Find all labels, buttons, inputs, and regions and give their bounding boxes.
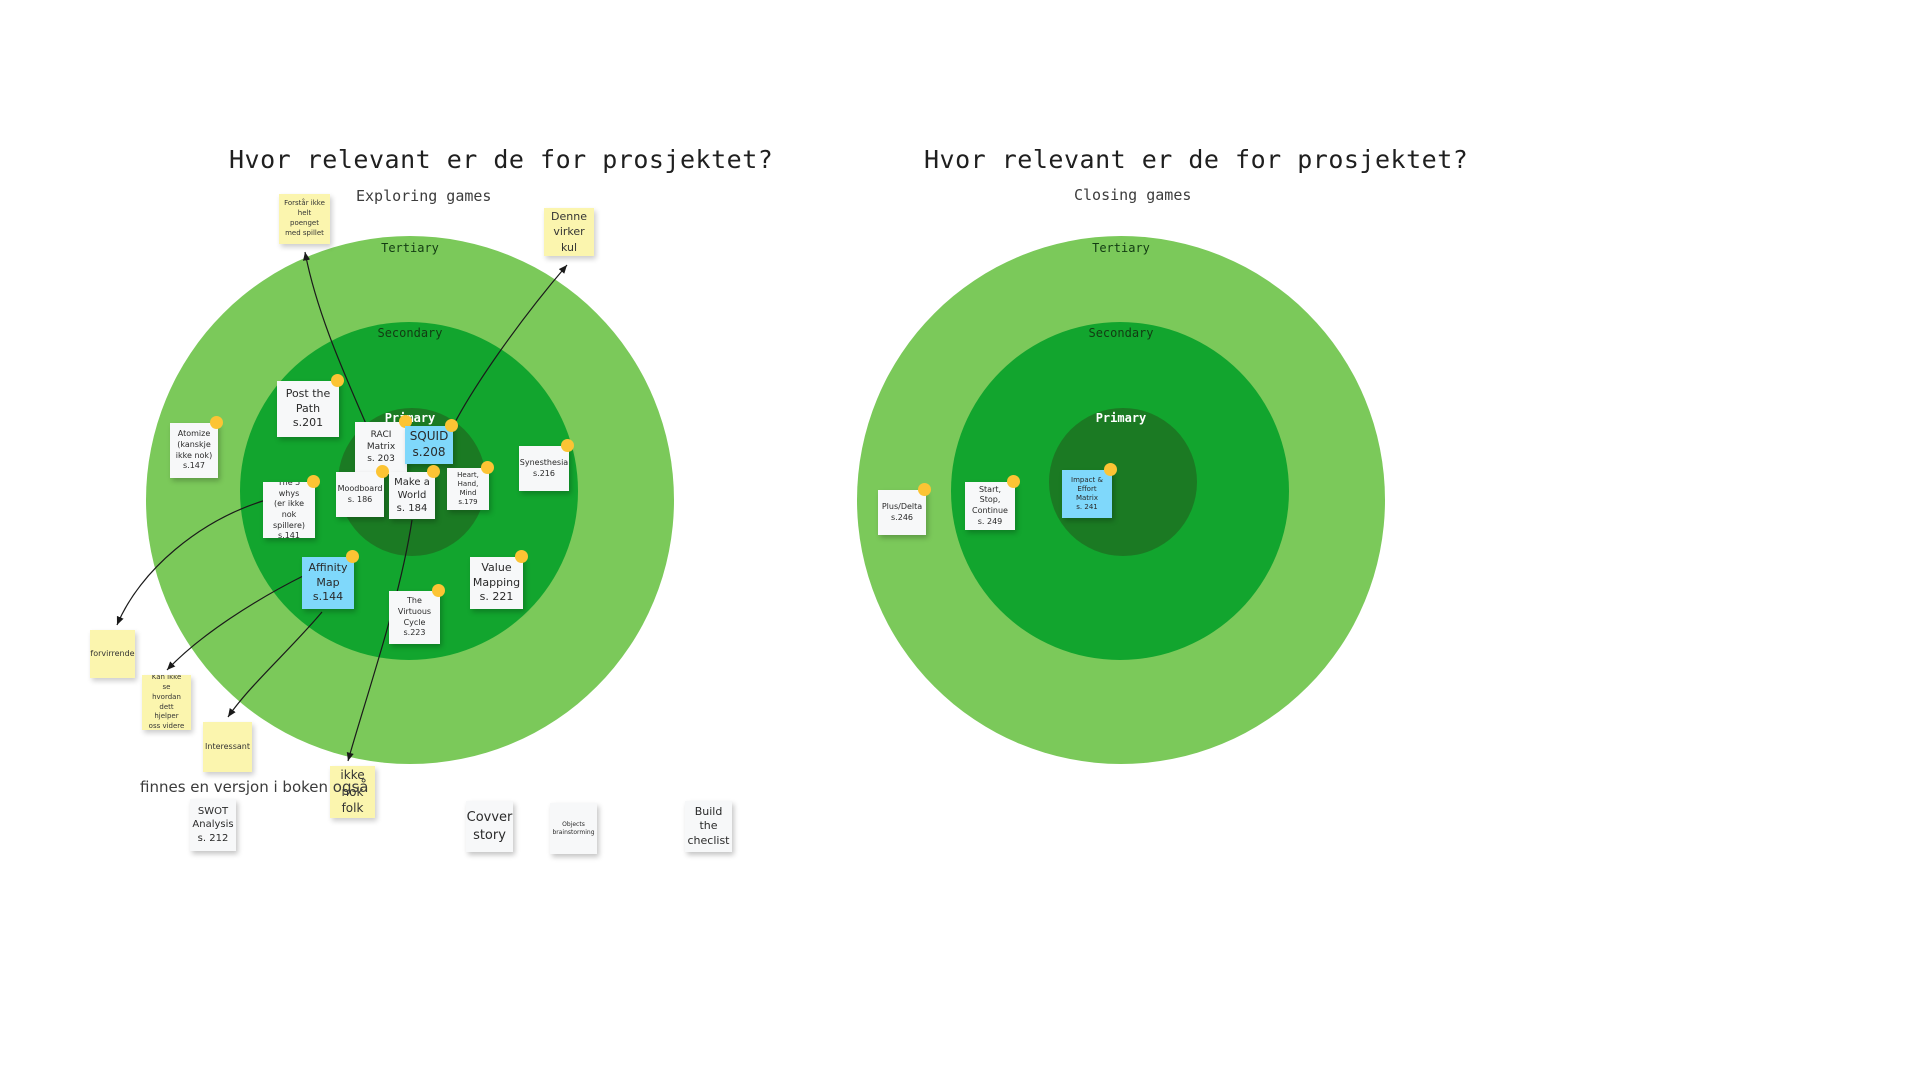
card-text-line: Kan ikke se (147, 675, 186, 693)
card-text: Objectsbrainstorming (552, 821, 594, 837)
card-text-line: hvordan (147, 693, 186, 703)
card-text-line: s.144 (308, 590, 347, 605)
card-text-line: Hand, Mind (452, 480, 484, 498)
card-text-line: Post the (286, 387, 331, 402)
card-text-line: Build (688, 805, 730, 820)
card-text-line: Synesthesia (520, 458, 568, 469)
card-text-line: Plus/Delta (882, 502, 922, 513)
card-affinity-map[interactable]: AffinityMaps.144 (302, 557, 354, 609)
card-text-line: s.201 (286, 416, 331, 431)
card-text-line: s.216 (520, 469, 568, 480)
card-text-line: s.208 (410, 445, 449, 461)
card-text-line: Moodboard (338, 484, 383, 495)
ring-label-tertiary-closing: Tertiary (1092, 241, 1150, 255)
card-text: Heart,Hand, Minds.179 (452, 471, 484, 508)
card-text-line: s. 212 (192, 832, 233, 845)
card-text: ValueMappings. 221 (473, 561, 520, 605)
card-moodboard[interactable]: Moodboards. 186 (336, 472, 384, 517)
ring-label-secondary-exploring: Secondary (377, 326, 442, 340)
card-post-the-path[interactable]: Post thePaths.201 (277, 381, 339, 437)
card-text: Impact &EffortMatrixs. 241 (1071, 476, 1103, 513)
card-impact-effort-matrix[interactable]: Impact &EffortMatrixs. 241 (1062, 470, 1112, 518)
card-text-line: Atomize (176, 429, 212, 440)
ring-label-secondary-closing: Secondary (1088, 326, 1153, 340)
card-text-line: s. 221 (473, 590, 520, 605)
card-text-line: Interessant (205, 741, 250, 752)
card-text-line: SWOT (192, 805, 233, 818)
card-text-line: s.141 (268, 531, 310, 538)
card-text-line: Path (286, 402, 331, 417)
card-text-line: World (394, 489, 430, 502)
card-text: Moodboards. 186 (338, 484, 383, 505)
card-text: Synesthesias.216 (520, 458, 568, 479)
card-text: SWOTAnalysiss. 212 (192, 805, 233, 845)
card-text-line: forvirrende (90, 648, 134, 659)
card-start-stop-continue[interactable]: Start, Stop,Continues. 249 (965, 482, 1015, 530)
card-plus-delta[interactable]: Plus/Deltas.246 (878, 490, 926, 535)
vote-dot-impact-effort-matrix[interactable] (1104, 463, 1117, 476)
vote-dot-heart-hand-mind[interactable] (481, 461, 494, 474)
card-text: SQUIDs.208 (410, 429, 449, 461)
card-the-virtuous-cycle[interactable]: TheVirtuousCycles.223 (389, 591, 440, 644)
card-build-the-checlist[interactable]: Buildthecheclist (685, 801, 732, 852)
card-text: Start, Stop,Continues. 249 (970, 485, 1010, 527)
vote-dot-atomize[interactable] (210, 416, 223, 429)
card-text: Covverstory (467, 809, 513, 843)
sticky-note-interessant[interactable]: Interessant (203, 722, 252, 772)
vote-dot-the-5-whys[interactable] (307, 475, 320, 488)
panel-subtitle-exploring: Exploring games (356, 187, 491, 205)
card-text: RACIMatrixs. 203 (367, 430, 395, 466)
card-text-line: SQUID (410, 429, 449, 445)
card-the-5-whys[interactable]: The 5 whys(er ikke nokspillere)s.141 (263, 482, 315, 538)
card-swot-analysis[interactable]: SWOTAnalysiss. 212 (190, 799, 236, 851)
vote-dot-plus-delta[interactable] (918, 483, 931, 496)
card-text-line: s.147 (176, 461, 212, 472)
vote-dot-make-a-world[interactable] (427, 465, 440, 478)
card-text-line: s. 186 (338, 495, 383, 506)
vote-dot-squid[interactable] (445, 419, 458, 432)
card-objects-brainstorming[interactable]: Objectsbrainstorming (550, 803, 597, 854)
card-text-line: Cycle (398, 618, 431, 629)
card-text-line: Value (473, 561, 520, 576)
ring-label-primary-closing: Primary (1096, 411, 1147, 425)
card-text-line: Virtuous (398, 607, 431, 618)
card-value-mapping[interactable]: ValueMappings. 221 (470, 557, 523, 609)
card-text-line: Objects (552, 821, 594, 829)
ring-label-tertiary-exploring: Tertiary (381, 241, 439, 255)
card-text-line: s. 241 (1071, 503, 1103, 512)
card-text: Atomize(kanskjeikke nok)s.147 (176, 429, 212, 471)
panel-title-exploring: Hvor relevant er de for prosjektet? (229, 145, 773, 174)
card-text-line: Make a (394, 476, 430, 489)
card-text-line: checlist (688, 834, 730, 849)
card-text-line: Continue (970, 506, 1010, 517)
card-text-line: dett hjelper (147, 703, 186, 723)
card-text: The 5 whys(er ikke nokspillere)s.141 (268, 482, 310, 538)
panel-title-closing: Hvor relevant er de for prosjektet? (924, 145, 1468, 174)
card-text-line: (kanskje (176, 440, 212, 451)
sticky-note-kan-ikke-se-hvordan[interactable]: Kan ikke sehvordandett hjelpeross videre (142, 675, 191, 730)
card-text-line: Matrix (367, 442, 395, 454)
card-text-line: s. 184 (394, 502, 430, 515)
card-text-line: brainstorming (552, 829, 594, 837)
card-text: Kan ikke sehvordandett hjelpeross videre (147, 675, 186, 730)
card-text-line: helt (284, 209, 325, 219)
vote-dot-affinity-map[interactable] (346, 550, 359, 563)
card-covver-story[interactable]: Covverstory (466, 801, 513, 852)
card-text-line: med spillet (284, 229, 325, 239)
card-text: Make aWorlds. 184 (394, 476, 430, 516)
card-text-line: virker (551, 224, 587, 239)
card-text-line: Start, Stop, (970, 485, 1010, 506)
free-text-finnes-en-versjon-note: finnes en versjon i boken også (140, 778, 368, 796)
card-text-line: Analysis (192, 818, 233, 831)
card-text: Plus/Deltas.246 (882, 502, 922, 523)
card-text-line: story (467, 827, 513, 844)
sticky-note-denne-virker-kul[interactable]: Dennevirkerkul (544, 208, 594, 256)
vote-dot-the-virtuous-cycle[interactable] (432, 584, 445, 597)
vote-dot-value-mapping[interactable] (515, 550, 528, 563)
card-text-line: Map (308, 576, 347, 591)
card-text-line: Heart, (452, 471, 484, 480)
card-text-line: Denne (551, 209, 587, 224)
card-text-line: s. 249 (970, 517, 1010, 528)
card-squid[interactable]: SQUIDs.208 (405, 426, 453, 464)
card-text-line: s.223 (398, 628, 431, 639)
card-text-line: s.179 (452, 498, 484, 507)
card-text: TheVirtuousCycles.223 (398, 596, 431, 638)
card-make-a-world[interactable]: Make aWorlds. 184 (389, 472, 435, 519)
card-text-line: ikke nok) (176, 451, 212, 462)
card-text: Post thePaths.201 (286, 387, 331, 431)
panel-subtitle-closing: Closing games (1074, 186, 1191, 204)
card-text-line: the (688, 819, 730, 834)
card-text-line: Mapping (473, 576, 520, 591)
card-text-line: kul (551, 240, 587, 255)
card-text: Dennevirkerkul (551, 209, 587, 255)
card-text-line: Forstår ikke (284, 199, 325, 209)
sticky-note-forvirrende[interactable]: forvirrende (90, 630, 135, 678)
vote-dot-synesthesia[interactable] (561, 439, 574, 452)
card-synesthesia[interactable]: Synesthesias.216 (519, 446, 569, 491)
card-text: Forstår ikkeheltpoengetmed spillet (284, 199, 325, 238)
card-text: Interessant (205, 741, 250, 752)
card-text-line: Covver (467, 809, 513, 826)
card-text-line: Matrix (1071, 494, 1103, 503)
card-text-line: Impact & (1071, 476, 1103, 485)
card-text-line: The 5 whys (268, 482, 310, 499)
card-heart-hand-mind[interactable]: Heart,Hand, Minds.179 (447, 468, 489, 510)
card-text: AffinityMaps.144 (308, 561, 347, 605)
sticky-note-forstar-ikke-poenget[interactable]: Forstår ikkeheltpoengetmed spillet (279, 194, 330, 244)
card-atomize[interactable]: Atomize(kanskjeikke nok)s.147 (170, 423, 218, 478)
card-text-line: poenget (284, 219, 325, 229)
card-text-line: The (398, 596, 431, 607)
card-text-line: folk (335, 800, 370, 817)
card-text: Buildthecheclist (688, 805, 730, 849)
card-text-line: (er ikke nok (268, 499, 310, 520)
card-text-line: oss videre (147, 722, 186, 730)
card-text: forvirrende (90, 648, 134, 659)
card-text-line: Effort (1071, 485, 1103, 494)
whiteboard-canvas[interactable]: Hvor relevant er de for prosjektet? Expl… (0, 0, 1920, 1080)
card-text-line: s.246 (882, 513, 922, 524)
vote-dot-post-the-path[interactable] (331, 374, 344, 387)
card-text-line: spillere) (268, 521, 310, 532)
vote-dot-start-stop-continue[interactable] (1007, 475, 1020, 488)
card-text-line: Affinity (308, 561, 347, 576)
card-text-line: RACI (367, 430, 395, 442)
vote-dot-moodboard[interactable] (376, 465, 389, 478)
